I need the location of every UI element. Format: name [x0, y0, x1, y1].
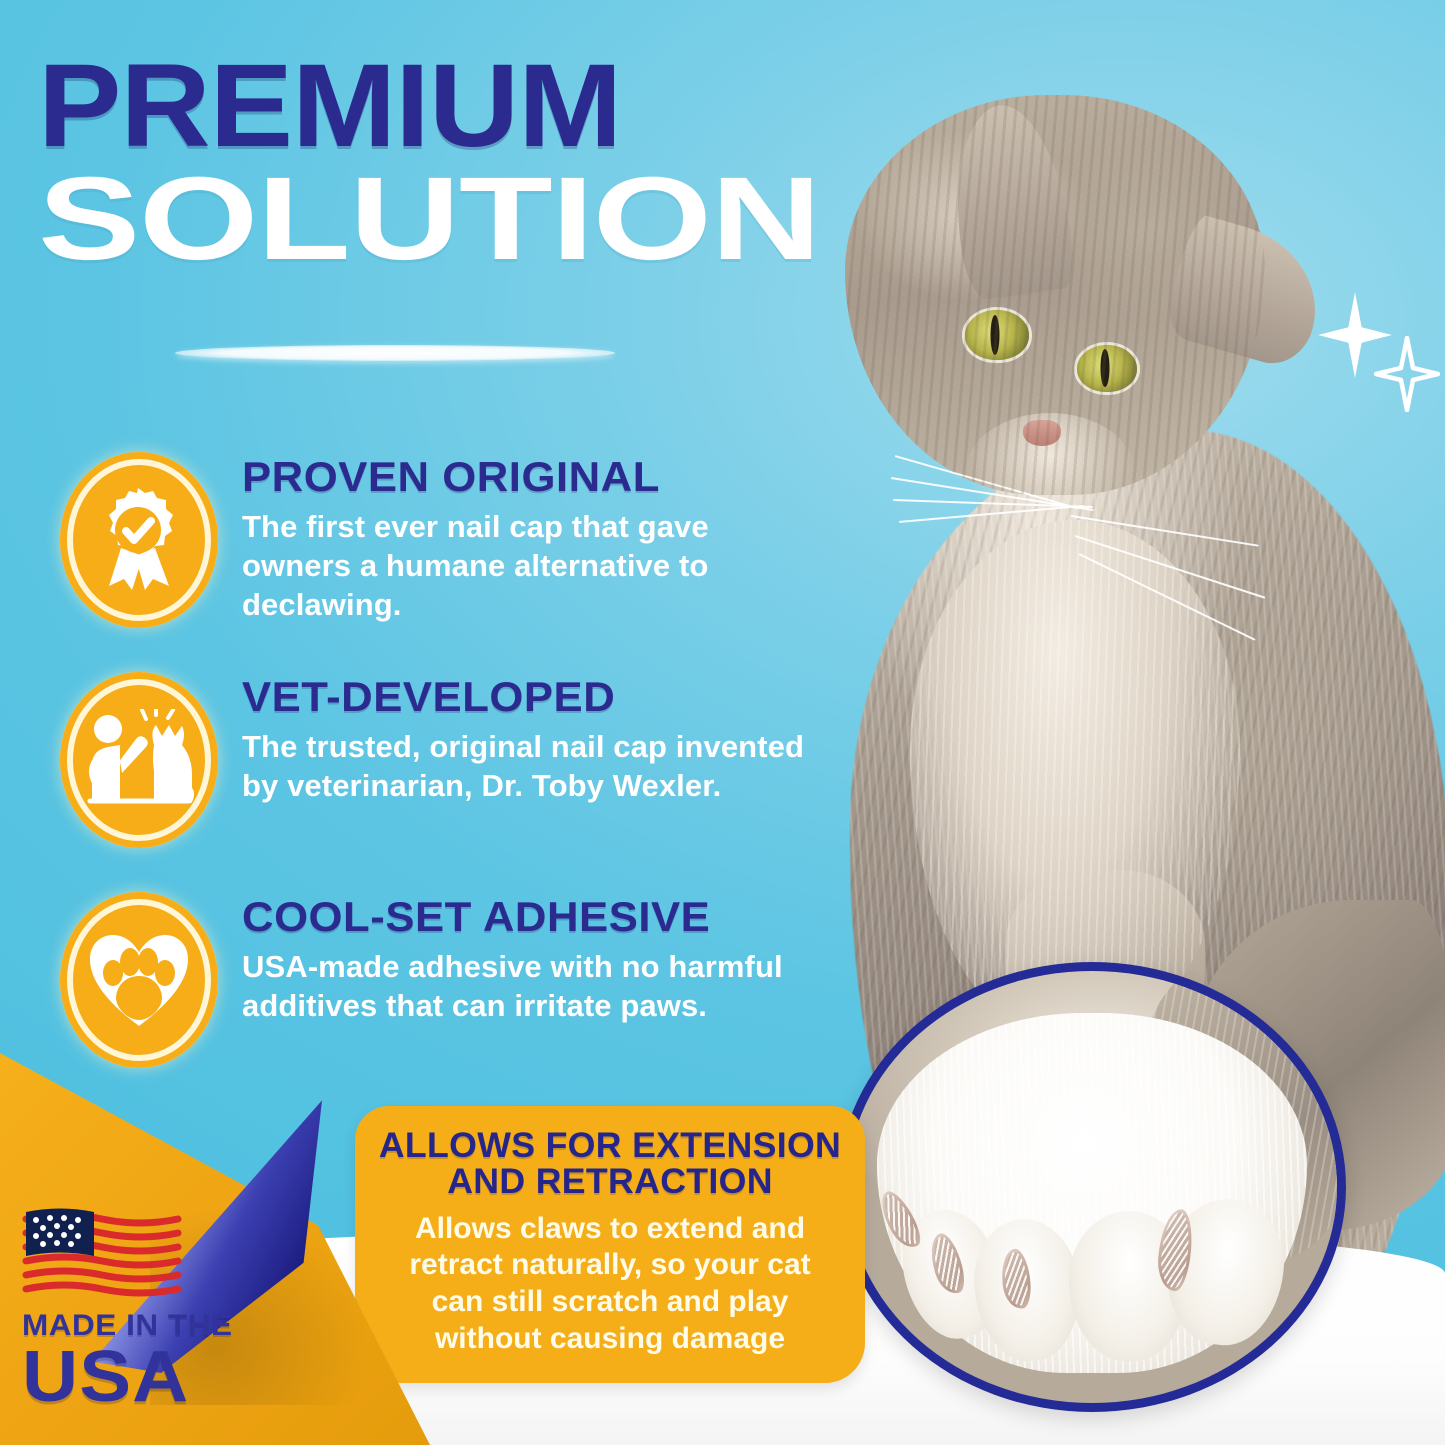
feature-body: The trusted, original nail cap invented …	[242, 727, 820, 805]
feature-item: VET-DEVELOPED The trusted, original nail…	[60, 672, 820, 848]
cat-paw-closeup-oval	[838, 962, 1346, 1412]
feature-list: PROVEN ORIGINAL The first ever nail cap …	[60, 452, 820, 1112]
feature-body: The first ever nail cap that gave owners…	[242, 507, 742, 624]
callout-heading: ALLOWS FOR EXTENSION AND RETRACTION	[376, 1128, 843, 1201]
swoosh-divider	[175, 345, 615, 361]
feature-item: PROVEN ORIGINAL The first ever nail cap …	[60, 452, 820, 628]
headline: PREMIUM SOLUTION	[38, 52, 808, 273]
cat-head	[845, 95, 1265, 495]
headline-line-2: SOLUTION	[38, 165, 1039, 274]
cat-whiskers	[865, 395, 1285, 585]
extension-retraction-callout: ALLOWS FOR EXTENSION AND RETRACTION Allo…	[355, 1106, 865, 1383]
feature-heading: VET-DEVELOPED	[242, 676, 843, 719]
cat-eye-right	[1077, 345, 1137, 392]
cat-eye-left	[965, 310, 1029, 360]
usa-flag-icon	[22, 1207, 182, 1299]
feature-heading: PROVEN ORIGINAL	[242, 456, 762, 499]
heart-paw-icon	[60, 892, 218, 1068]
cat-ear-right	[1161, 212, 1335, 372]
cat-nose	[1023, 420, 1061, 446]
usa-badge-line-2: USA	[22, 1343, 303, 1411]
headline-line-1: PREMIUM	[38, 52, 854, 161]
feature-text: VET-DEVELOPED The trusted, original nail…	[242, 672, 820, 805]
vet-highfive-cat-icon	[60, 672, 218, 848]
sparkle-outline-icon	[1374, 336, 1440, 412]
callout-body: Allows claws to extend and retract natur…	[381, 1211, 839, 1357]
feature-item: COOL-SET ADHESIVE USA-made adhesive with…	[60, 892, 820, 1068]
feature-text: COOL-SET ADHESIVE USA-made adhesive with…	[242, 892, 802, 1025]
feature-heading: COOL-SET ADHESIVE	[242, 896, 824, 939]
product-infographic: PREMIUM SOLUTION PROVEN ORIGINAL The fir…	[0, 0, 1445, 1445]
feature-text: PROVEN ORIGINAL The first ever nail cap …	[242, 452, 742, 624]
award-badge-icon	[60, 452, 218, 628]
feature-body: USA-made adhesive with no harmful additi…	[242, 947, 802, 1025]
made-in-usa-badge: MADE IN THE USA	[22, 1207, 282, 1411]
